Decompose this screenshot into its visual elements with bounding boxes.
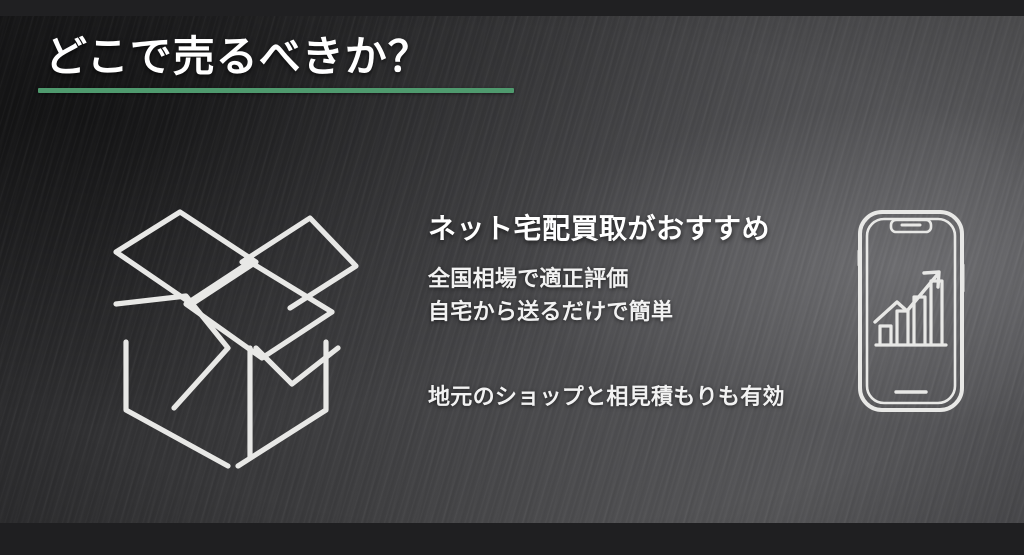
copy-closing-line: 地元のショップと相見積もりも有効 <box>428 380 848 413</box>
copy-heading: ネット宅配買取がおすすめ <box>428 212 848 246</box>
copy-line-2: 自宅から送るだけで簡単 <box>428 295 848 328</box>
smartphone-growth-chart-icon <box>852 203 970 418</box>
copy-line-1: 全国相場で適正評価 <box>428 262 848 295</box>
open-cardboard-box-icon <box>108 200 344 425</box>
letterbox-bar-top <box>0 0 1024 16</box>
copy-spacer <box>428 328 848 380</box>
slide-canvas: どこで売るべきか？ <box>0 0 1024 555</box>
letterbox-bar-bottom <box>0 523 1024 555</box>
title-underline-accent <box>38 88 514 93</box>
copy-block: ネット宅配買取がおすすめ 全国相場で適正評価 自宅から送るだけで簡単 地元のショ… <box>428 212 848 413</box>
slide-title: どこで売るべきか？ <box>45 32 431 82</box>
